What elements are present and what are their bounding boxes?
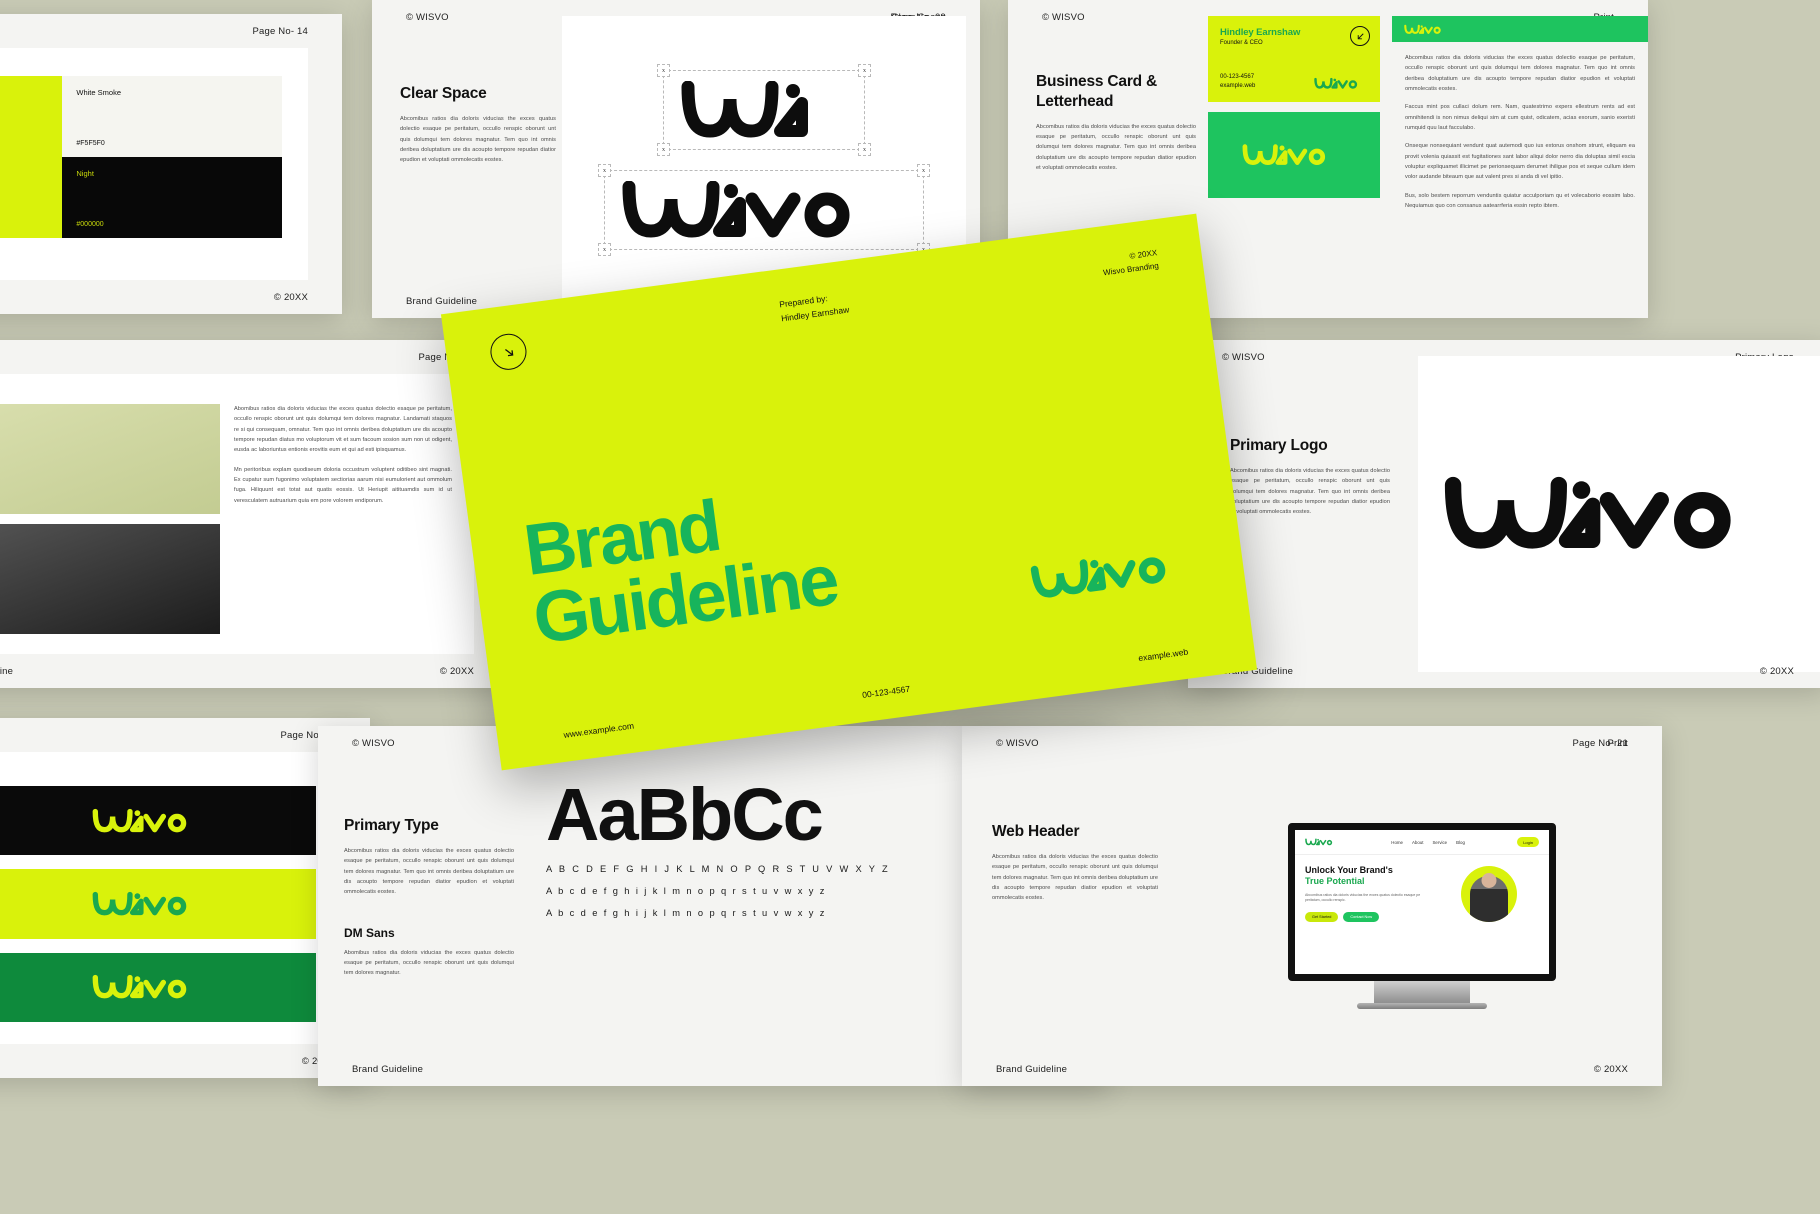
wisvo-wordmark-icon: [92, 971, 210, 1003]
nav-link-about[interactable]: About: [1412, 840, 1423, 845]
slide-text-column: Web Header Abcomibus ratios dia doloris …: [992, 822, 1158, 904]
cover-copyright-block: © 20XX Wisvo Branding: [1101, 247, 1161, 290]
footer-copyright: © 20XX: [274, 292, 308, 303]
copyright-label: © WISVO: [406, 12, 449, 23]
letterhead-header-bar: [1392, 16, 1648, 42]
font-family-name: DM Sans: [344, 926, 514, 940]
slide-text-column: Business Card & Letterhead Abcomibus rat…: [1036, 72, 1196, 173]
cover-logo: [1029, 538, 1203, 613]
slide-text-column: Primary Logo Abcomibus ratios dia dolori…: [1230, 436, 1390, 518]
swatch-group: White Smoke #F5F5F0 Night #000000: [0, 76, 282, 238]
slide-title: Business Card & Letterhead: [1036, 72, 1196, 112]
slide-body-text: Abcomibus ratios dia doloris viducias th…: [992, 852, 1158, 904]
card-footer: 00-123-4567 example.web: [1220, 73, 1368, 91]
font-description: Abomibus ratios dia doloris viducias the…: [344, 948, 514, 979]
footer-left-label: Brand Guideline: [996, 1064, 1067, 1075]
slide-body: White Smoke #F5F5F0 Night #000000: [0, 48, 308, 280]
wisvo-wordmark-icon: [1029, 538, 1202, 608]
wisvo-wordmark-icon: [1404, 23, 1450, 36]
brand-story-grid: Abomibus ratios dia doloris viducias the…: [0, 404, 452, 634]
nav-link-service[interactable]: Service: [1432, 840, 1447, 845]
slide-title: Clear Space: [400, 84, 556, 104]
card-contact: 00-123-4567 example.web: [1220, 73, 1255, 91]
letterhead-paragraph: Onseque nonsequiant vendunt quat autemod…: [1405, 141, 1635, 182]
copyright-label: © WISVO: [996, 738, 1039, 749]
hero-heading-line1: Unlock Your Brand's: [1305, 865, 1393, 875]
logo-panel-green: [0, 953, 316, 1022]
slide-footer: Brand Guideline © 20XX: [1188, 654, 1820, 688]
wisvo-wordmark-icon: [621, 181, 907, 239]
logo-panel-yellow: [0, 869, 316, 938]
monitor-base: [1357, 1003, 1487, 1009]
swatch-night: Night #000000: [62, 157, 282, 238]
nav-link-blog[interactable]: Blog: [1456, 840, 1465, 845]
x-marker-icon: x: [657, 143, 670, 156]
slide-brand-story[interactable]: Brand Story Page No- 05 Abomibus ratios …: [0, 340, 508, 688]
swatch-name: White Smoke: [76, 88, 268, 97]
page-number-label: Page No- 14: [252, 26, 308, 37]
slide-logo-variants[interactable]: Page No- 12: [0, 718, 370, 1078]
hero-paragraph: Abcomibus ratios dia doloris viducias th…: [1305, 893, 1431, 905]
swatch-hex: #000000: [76, 221, 103, 228]
login-button[interactable]: Login: [1517, 837, 1539, 847]
x-marker-icon: x: [598, 243, 611, 256]
page-number-label: Page No- 21: [1572, 738, 1628, 749]
card-web: example.web: [1220, 82, 1255, 91]
slide-footer: Brand Guideline © 20XX: [0, 654, 508, 688]
x-marker-icon: x: [858, 64, 871, 77]
slide-header: Page No- 12: [0, 718, 370, 752]
letterhead-body: Abcomibus ratios dia doloris viducias th…: [1392, 42, 1648, 222]
footer-copyright: © 20XX: [1594, 1064, 1628, 1075]
slide-body: Abomibus ratios dia doloris viducias the…: [0, 374, 474, 654]
prepared-by-block: Prepared by: Hindley Earnshaw: [778, 289, 851, 334]
x-marker-icon: x: [858, 143, 871, 156]
business-card-column: Hindley Earnshaw Founder & CEO 00-123-45…: [1208, 16, 1380, 304]
primary-logo-stage: [1418, 356, 1820, 672]
slide-footer: Brand Guideline © 20XX: [962, 1052, 1662, 1086]
copyright-label: © WISVO: [1222, 352, 1265, 363]
hero-heading-line2: True Potential: [1305, 876, 1365, 886]
hero-text-block: Unlock Your Brand's True Potential Abcom…: [1305, 865, 1431, 922]
swatch-name: Night: [76, 169, 268, 178]
copyright-label: © WISVO: [1042, 12, 1085, 23]
wisvo-monogram-icon: [680, 81, 848, 139]
slide-body: [0, 752, 336, 1044]
slide-body-text: Abcomibus ratios dia doloris viducias th…: [344, 846, 514, 898]
story-image-column: [0, 404, 220, 634]
slide-title: Primary Logo: [1230, 436, 1390, 456]
swatch-white-smoke: White Smoke #F5F5F0: [62, 76, 282, 157]
slide-title: Primary Type: [344, 816, 514, 836]
wisvo-wordmark-icon: [1242, 141, 1346, 169]
mockup-board: Page No- 14 White Smoke #F5F5F0 Night #0…: [0, 0, 1820, 1214]
x-marker-icon: x: [917, 164, 930, 177]
cover-web-short[interactable]: example.web: [1138, 647, 1189, 664]
slide-body-text: Abcomibus ratios dia doloris viducias th…: [1036, 122, 1196, 174]
slide-text-column: Primary Type Abcomibus ratios dia dolori…: [344, 816, 514, 979]
cover-website[interactable]: www.example.com: [563, 721, 635, 740]
hero-heading: Unlock Your Brand's True Potential: [1305, 865, 1431, 888]
slide-body-text: Abcomibus ratios dia doloris viducias th…: [400, 114, 556, 166]
letterhead-mockup: Abcomibus ratios dia doloris viducias th…: [1392, 16, 1648, 304]
print-mockup-stage: Hindley Earnshaw Founder & CEO 00-123-45…: [1208, 16, 1648, 304]
letterhead-paragraph: Abcomibus ratios dia doloris viducias th…: [1405, 53, 1635, 94]
wisvo-wordmark-icon: [1314, 76, 1368, 91]
slide-body-text: Abcomibus ratios dia doloris viducias th…: [1230, 466, 1390, 518]
letterhead-paragraph: Bus, solo bestem reporrum venduntis quia…: [1405, 191, 1635, 212]
footer-copyright: © 20XX: [440, 666, 474, 677]
team-meeting-photo: [0, 404, 220, 514]
footer-left-label: Brand Guideline: [352, 1064, 423, 1075]
slide-footer: © 20XX: [0, 1044, 370, 1078]
logo-variant-grid: [0, 786, 316, 1022]
website-hero: Unlock Your Brand's True Potential Abcom…: [1295, 855, 1549, 932]
monitor-mockup: Home About Service Blog Login Unlock You…: [1288, 823, 1556, 1009]
cover-title: Brand Guideline: [521, 477, 841, 654]
card-phone: 00-123-4567: [1220, 73, 1255, 82]
wisvo-wordmark-icon: [92, 805, 210, 837]
story-paragraph: Mn peritoribus explam quodiseum doloria …: [234, 465, 452, 506]
swatch-primary-yellow: [0, 76, 62, 238]
monitor-mockup-stage: Home About Service Blog Login Unlock You…: [1192, 760, 1652, 1072]
slide-text-column: Clear Space Abcomibus ratios dia doloris…: [400, 84, 556, 166]
businessman-laptop-photo: [0, 524, 220, 634]
x-marker-icon: x: [657, 64, 670, 77]
monitor-screen: Home About Service Blog Login Unlock You…: [1288, 823, 1556, 981]
copyright-label: © WISVO: [352, 738, 395, 749]
story-text-column: Abomibus ratios dia doloris viducias the…: [234, 404, 452, 634]
clearspace-wordmark: x x x x: [604, 170, 924, 250]
cover-phone[interactable]: 00-123-4567: [862, 684, 911, 700]
wisvo-wordmark-icon: [92, 888, 210, 920]
monitor-stand: [1374, 981, 1470, 1003]
nav-links[interactable]: Home About Service Blog: [1391, 840, 1465, 845]
x-marker-icon: x: [598, 164, 611, 177]
hero-avatar: [1461, 866, 1517, 922]
clearspace-box-mark: x x x x: [663, 70, 865, 150]
website-navbar[interactable]: Home About Service Blog Login: [1295, 830, 1549, 855]
wisvo-wordmark-icon: [1305, 837, 1339, 847]
nav-link-home[interactable]: Home: [1391, 840, 1403, 845]
get-started-button[interactable]: Get Started: [1305, 912, 1338, 922]
story-paragraph: Abomibus ratios dia doloris viducias the…: [234, 404, 452, 456]
slide-header: Brand Story Page No- 05: [0, 340, 508, 374]
slide-header: Page No- 14: [0, 14, 342, 48]
cover-card[interactable]: Prepared by: Hindley Earnshaw © 20XX Wis…: [441, 214, 1257, 771]
hero-button-group[interactable]: Get Started Contact Now: [1305, 912, 1431, 922]
card-holder-name: Hindley Earnshaw: [1220, 27, 1368, 38]
business-card-back: [1208, 112, 1380, 198]
slide-color-palette[interactable]: Page No- 14 White Smoke #F5F5F0 Night #0…: [0, 14, 342, 314]
slide-primary-logo[interactable]: © WISVO Primary Logo Primary Logo Abcomi…: [1188, 340, 1820, 688]
arrow-down-right-icon[interactable]: [488, 332, 528, 372]
slide-web-header[interactable]: © WISVO Print Page No- 21 Web Header Abc…: [962, 726, 1662, 1086]
letterhead-paragraph: Faccus mint pos cullaci dolum rem. Nam, …: [1405, 102, 1635, 133]
slide-title: Web Header: [992, 822, 1158, 842]
slide-footer: © 20XX: [0, 280, 342, 314]
arrow-down-left-icon: [1350, 26, 1370, 46]
person-head-icon: [1481, 873, 1496, 888]
logo-panel-dark: [0, 786, 316, 855]
business-card-front: Hindley Earnshaw Founder & CEO 00-123-45…: [1208, 16, 1380, 102]
swatch-column: White Smoke #F5F5F0 Night #000000: [62, 76, 282, 238]
slide-header: © WISVO Print Page No- 21: [962, 726, 1662, 760]
wisvo-wordmark-icon: [1443, 459, 1803, 569]
hero-image-block: [1439, 865, 1539, 922]
footer-left-label: Brand Guideline: [0, 666, 13, 677]
footer-copyright: © 20XX: [1760, 666, 1794, 677]
contact-now-button[interactable]: Contact Now: [1343, 912, 1379, 922]
card-holder-role: Founder & CEO: [1220, 40, 1368, 46]
footer-left-label: Brand Guideline: [406, 296, 477, 307]
swatch-hex: #F5F5F0: [76, 140, 104, 147]
